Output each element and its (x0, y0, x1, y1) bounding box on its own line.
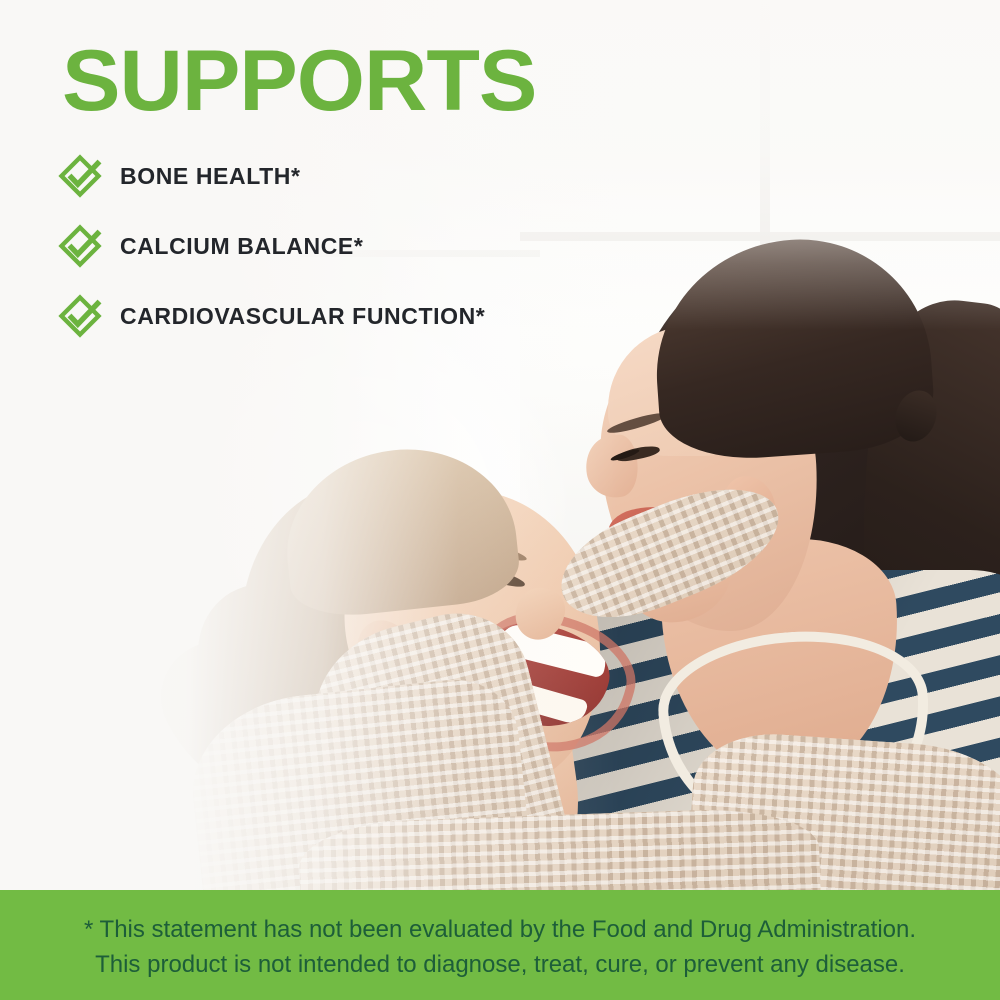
check-diamond-icon (58, 154, 102, 198)
check-diamond-icon (58, 224, 102, 268)
product-benefits-card: SUPPORTS BONE HEALTH* CALCIUM BALANCE* (0, 0, 1000, 1000)
benefit-label: CALCIUM BALANCE* (120, 233, 363, 260)
benefit-label: CARDIOVASCULAR FUNCTION* (120, 303, 485, 330)
lifestyle-photo (0, 0, 1000, 1000)
girl-hair-top (277, 438, 522, 621)
list-item: BONE HEALTH* (58, 152, 758, 200)
disclaimer-line-2: This product is not intended to diagnose… (95, 947, 905, 982)
list-item: CARDIOVASCULAR FUNCTION* (58, 292, 758, 340)
disclaimer-line-1: * This statement has not been evaluated … (84, 912, 916, 947)
disclaimer-footer: * This statement has not been evaluated … (0, 890, 1000, 1000)
benefits-list: BONE HEALTH* CALCIUM BALANCE* CARDIOVASC… (58, 152, 758, 362)
check-diamond-icon (58, 294, 102, 338)
list-item: CALCIUM BALANCE* (58, 222, 758, 270)
page-title: SUPPORTS (62, 42, 536, 121)
benefit-label: BONE HEALTH* (120, 163, 301, 190)
